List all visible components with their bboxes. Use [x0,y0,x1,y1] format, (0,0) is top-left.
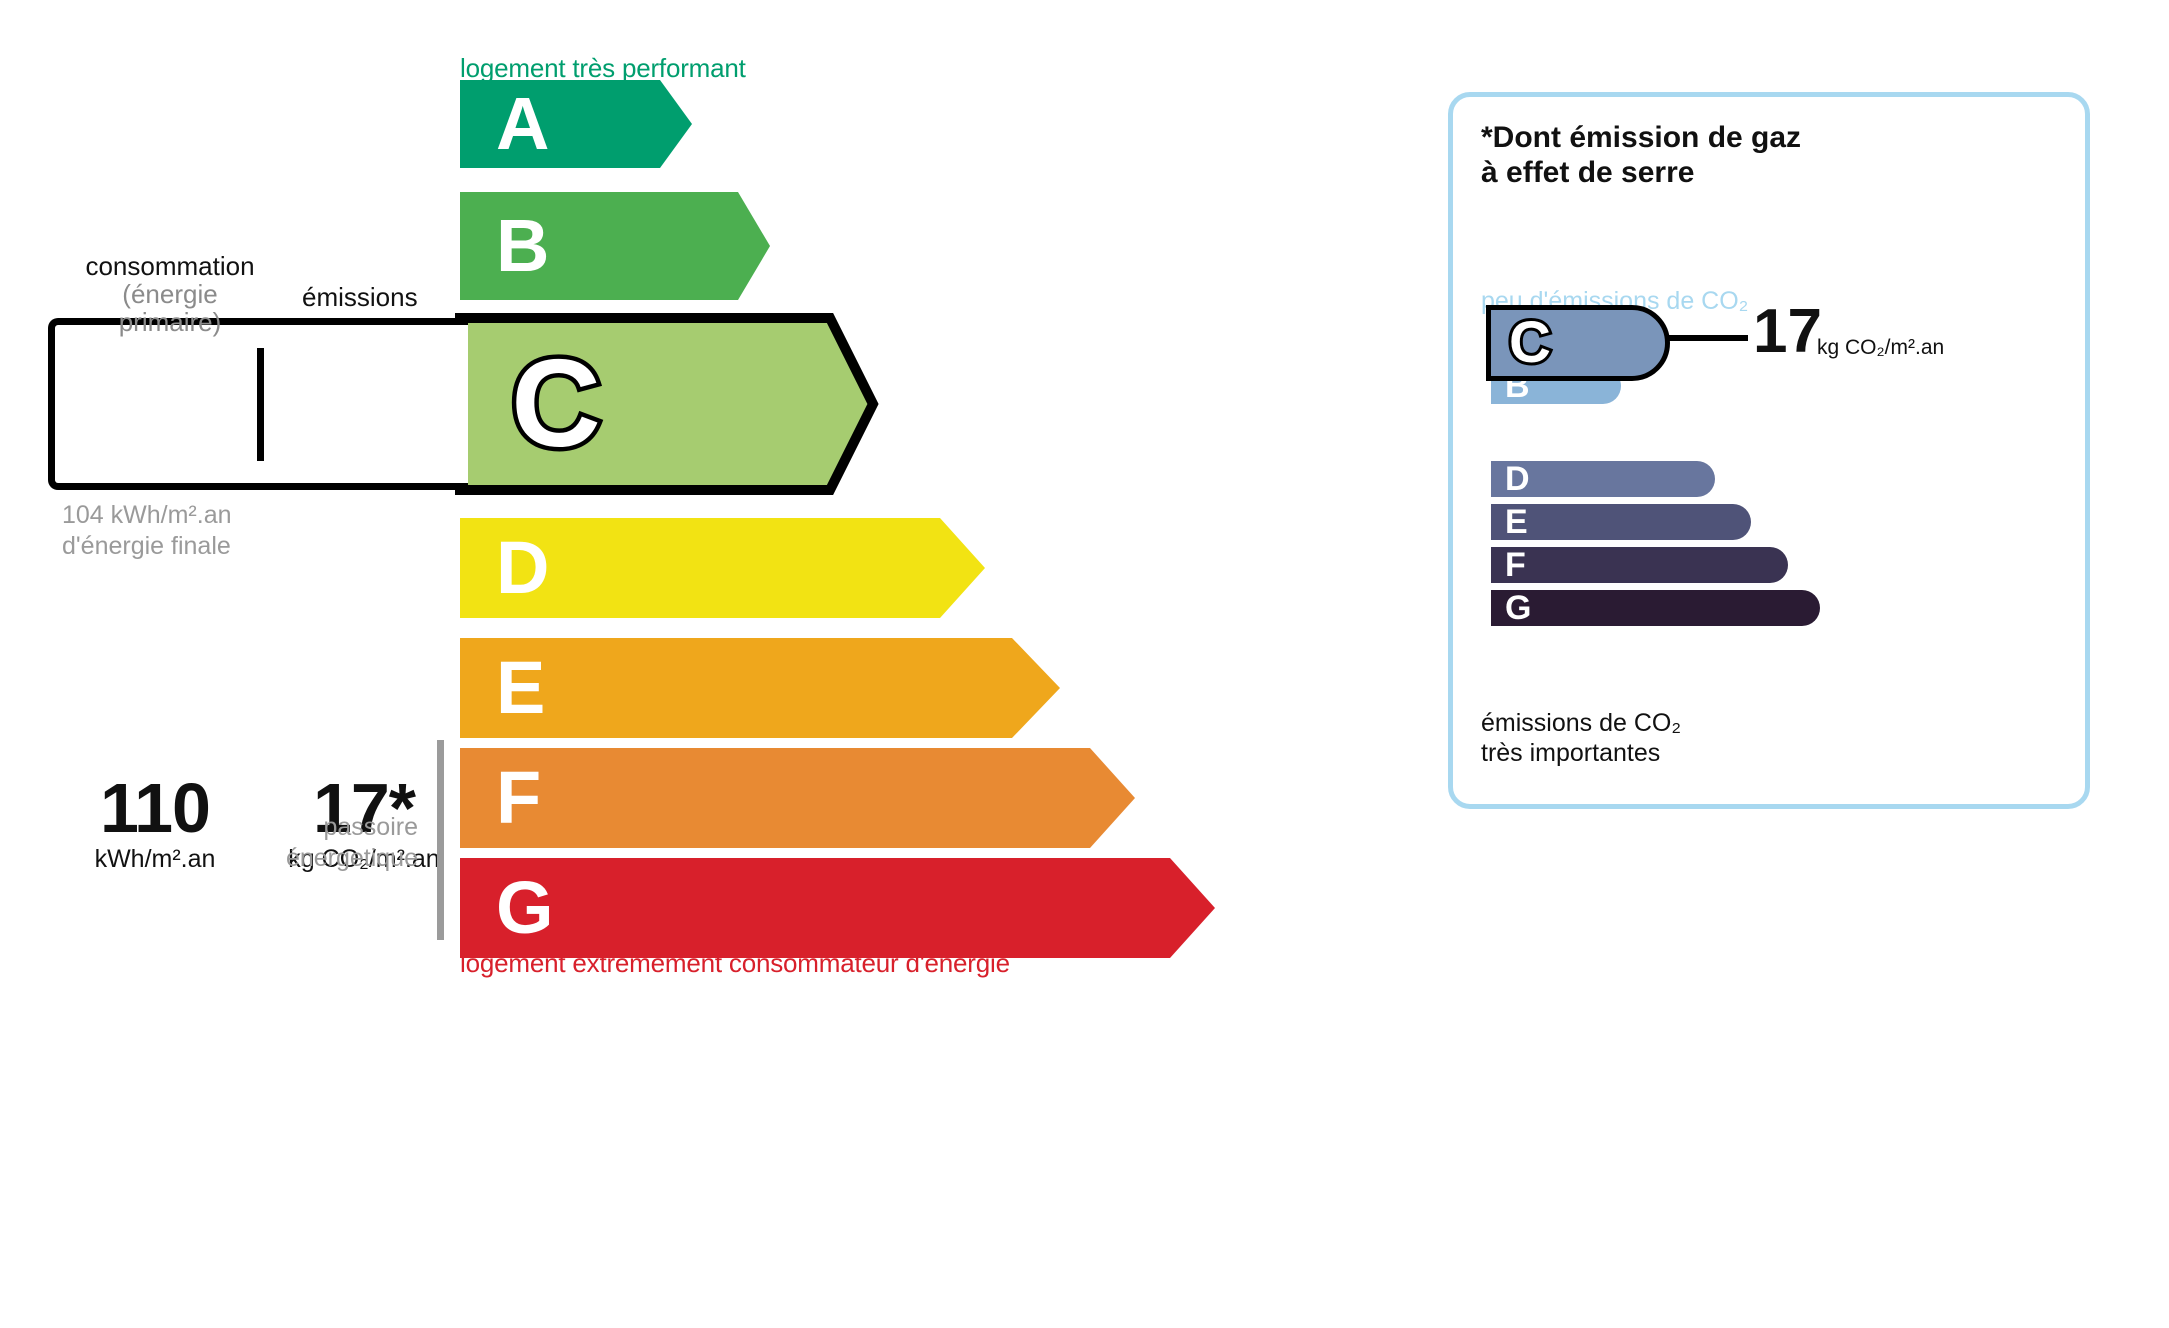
energy-bar-c-letter: C [511,342,601,466]
energy-performance-scale: logement très performant A B C 110 kWh/m… [0,0,1300,1010]
energy-bar-c-letter-wrap: C [496,318,616,490]
final-energy-note: 104 kWh/m².an d'énergie finale [62,500,232,561]
energy-bar-b: B [460,192,770,300]
energy-bar-e-letter: E [496,651,545,725]
co2-emissions-panel: *Dont émission de gaz à effet de serre p… [1448,92,2090,809]
emissions-header: émissions [302,283,418,311]
passoire-label-line2: énergetique [200,843,418,874]
scale-bottom-caption: logement extrêmement consommateur d'éner… [460,948,1010,979]
consumption-header-line1: consommation [70,252,270,280]
co2-panel-title: *Dont émission de gaz à effet de serre [1481,121,1801,190]
co2-bar-g: G [1491,590,1820,626]
consumption-header-line2: (énergie primaire) [70,280,270,336]
co2-bar-e: E [1491,504,1751,540]
consumption-value: 110 [100,774,210,843]
energy-bar-d-letter: D [496,531,549,605]
passoire-label-line1: passoire [200,812,418,843]
energy-bar-e: E [460,638,1060,738]
energy-bar-a-letter: A [496,87,549,161]
energy-bar-b-letter: B [496,209,549,283]
co2-bar-f-letter: F [1505,548,1526,582]
co2-bottom-caption-line2: très importantes [1481,739,1681,769]
consumption-unit: kWh/m².an [95,847,216,872]
co2-bar-e-letter: E [1505,505,1528,539]
co2-bar-c-letter: C [1509,314,1551,372]
energy-bar-g-letter: G [496,871,554,945]
energy-bar-f: F [460,748,1135,848]
co2-leader-line [1666,335,1748,341]
co2-panel-title-line2: à effet de serre [1481,156,1801,191]
co2-bar-d: D [1491,461,1715,497]
energy-bar-a: A [460,80,692,168]
co2-bottom-caption: émissions de CO₂ très importantes [1481,709,1681,768]
energy-bar-d: D [460,518,985,618]
co2-bar-f: F [1491,547,1788,583]
passoire-label: passoire énergetique [200,812,418,873]
consumption-header: consommation (énergie primaire) [70,252,270,336]
energy-bar-f-letter: F [496,761,541,835]
co2-panel-title-line1: *Dont émission de gaz [1481,121,1801,156]
co2-bar-g-letter: G [1505,591,1531,625]
value-box-divider [257,348,264,461]
passoire-indicator-bar [437,740,444,940]
co2-bar-d-letter: D [1505,462,1530,496]
final-energy-line2: d'énergie finale [62,531,232,562]
co2-unit: kg CO₂/m².an [1817,337,1944,358]
co2-bar-c-selected: C [1486,305,1670,381]
final-energy-line1: 104 kWh/m².an [62,500,232,531]
co2-bottom-caption-line1: émissions de CO₂ [1481,709,1681,739]
energy-bar-g: G [460,858,1215,958]
co2-value: 17 [1753,301,1822,363]
